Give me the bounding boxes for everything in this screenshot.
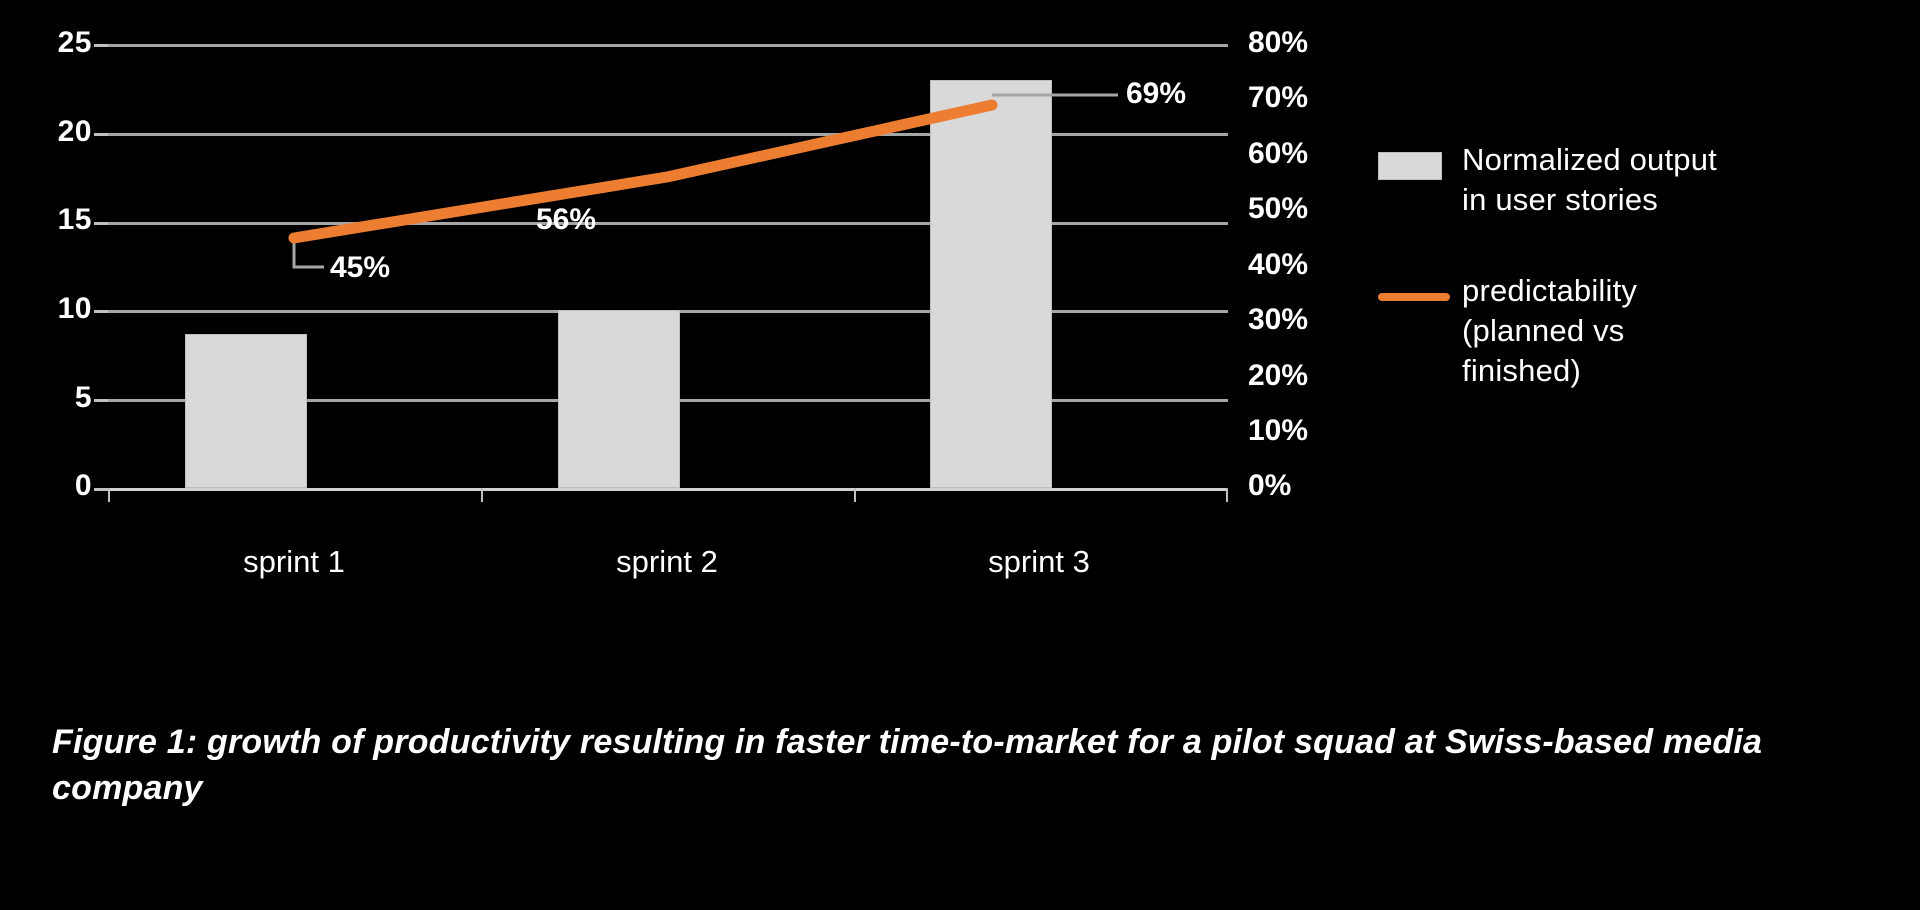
legend-label-line-2: in user stories	[1462, 180, 1717, 220]
y-axis-right-tick-10: 10%	[1248, 414, 1368, 448]
predictability-polyline	[294, 105, 992, 238]
legend-label-line-3: finished)	[1462, 351, 1637, 391]
x-axis-tick-3	[1226, 488, 1228, 502]
y-axis-left-tick-20: 20	[22, 115, 92, 149]
y-axis-left-tick-25: 25	[22, 26, 92, 60]
tick-mark-10	[94, 310, 108, 313]
y-axis-right-tick-0: 0%	[1248, 469, 1368, 503]
plot-area: 45% 56% 69% sprint 1 sprint 2 sprint 3	[108, 44, 1228, 488]
legend-item-normalized-output[interactable]: Normalized output in user stories	[1378, 140, 1898, 219]
y-axis-right-tick-60: 60%	[1248, 137, 1368, 171]
y-axis-right-tick-70: 70%	[1248, 81, 1368, 115]
y-axis-right-tick-30: 30%	[1248, 303, 1368, 337]
x-axis-tick-2	[854, 488, 856, 502]
chart-area: 25 20 15 10 5 0 80% 70% 60% 50% 40% 30% …	[0, 0, 1920, 690]
y-axis-right-tick-20: 20%	[1248, 359, 1368, 393]
data-label-sprint-2: 56%	[536, 203, 596, 237]
predictability-line-series	[108, 44, 1228, 488]
y-axis-left-tick-0: 0	[22, 469, 92, 503]
y-axis-right-tick-50: 50%	[1248, 192, 1368, 226]
tick-mark-0	[94, 488, 108, 491]
legend-label-line-1: Normalized output	[1462, 140, 1717, 180]
y-axis-left-tick-15: 15	[22, 203, 92, 237]
line-swatch-icon	[1378, 293, 1450, 301]
x-axis-line	[108, 488, 1228, 491]
figure-caption: Figure 1: growth of productivity resulti…	[52, 720, 1782, 812]
legend-label-line-2: (planned vs	[1462, 311, 1637, 351]
legend-item-predictability[interactable]: predictability (planned vs finished)	[1378, 271, 1898, 390]
y-axis-right-tick-80: 80%	[1248, 26, 1368, 60]
y-axis-left-tick-10: 10	[22, 292, 92, 326]
tick-mark-5	[94, 399, 108, 402]
x-axis-label-sprint-2: sprint 2	[517, 544, 817, 580]
x-axis-tick-1	[481, 488, 483, 502]
chart-legend: Normalized output in user stories predic…	[1378, 140, 1898, 442]
legend-label-line-1: predictability	[1462, 271, 1637, 311]
x-axis-label-sprint-3: sprint 3	[889, 544, 1189, 580]
tick-mark-20	[94, 133, 108, 136]
bar-swatch-icon	[1378, 152, 1442, 180]
data-label-sprint-3: 69%	[1126, 77, 1186, 111]
legend-item-label: Normalized output in user stories	[1462, 140, 1717, 219]
tick-mark-25	[94, 44, 108, 47]
tick-mark-15	[94, 222, 108, 225]
figure-container: 25 20 15 10 5 0 80% 70% 60% 50% 40% 30% …	[0, 0, 1920, 910]
y-axis-left-tick-5: 5	[22, 381, 92, 415]
x-axis-tick-0	[108, 488, 110, 502]
y-axis-right-tick-40: 40%	[1248, 248, 1368, 282]
x-axis-label-sprint-1: sprint 1	[144, 544, 444, 580]
data-label-sprint-1: 45%	[330, 251, 390, 285]
legend-item-label: predictability (planned vs finished)	[1462, 271, 1637, 390]
